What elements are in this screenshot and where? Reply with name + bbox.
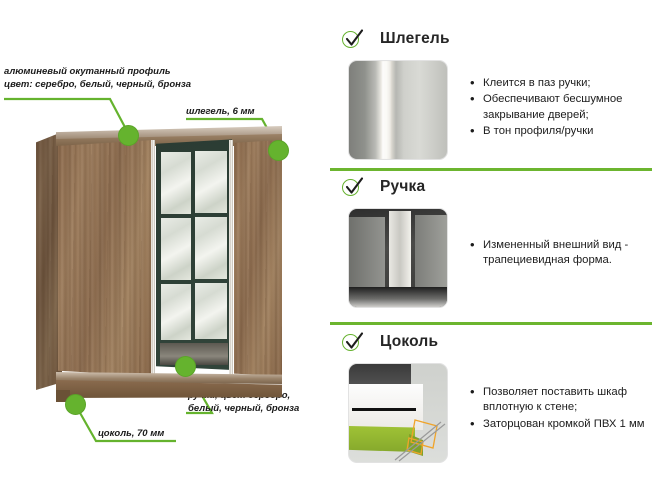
annotation-shlegel: шлегель, 6 мм: [186, 106, 255, 119]
feature-bullet-list: Клеится в паз ручки; Обеспечивают бесшум…: [470, 60, 652, 160]
handle-closeup-photo: [348, 208, 448, 308]
wardrobe-door-right: [234, 140, 282, 376]
annotation-plinth: цоколь, 70 мм: [98, 428, 164, 441]
annotation-profile-line2: цвет: серебро, белый, черный, бронза: [4, 79, 191, 92]
mirror-pane: [195, 151, 227, 213]
callout-dot-profile: [118, 125, 139, 146]
mirror-pane: [161, 152, 191, 214]
bullet-item: Измененный внешний вид - трапециевидная …: [470, 238, 652, 269]
annotation-shlegel-line1: шлегель, 6 мм: [186, 106, 255, 119]
product-illustration-panel: алюминевый окутанный профиль цвет: сереб…: [0, 0, 330, 500]
bullet-item: Клеится в паз ручки;: [470, 76, 652, 91]
check-circle-icon: [342, 332, 363, 353]
check-circle-icon: [342, 29, 363, 50]
features-panel: Шлегель Клеится в паз ручки; Обеспечиваю…: [330, 0, 652, 500]
section-divider: [330, 168, 652, 171]
annotation-profile-line1: алюминевый окутанный профиль: [4, 66, 191, 79]
plinth-closeup-photo: [348, 363, 448, 463]
feature-body: Позволяет поставить шкаф вплотную к стен…: [330, 363, 652, 463]
wardrobe-graphic: [36, 118, 282, 400]
annotation-plinth-line1: цоколь, 70 мм: [98, 428, 164, 441]
feature-body: Клеится в паз ручки; Обеспечивают бесшум…: [330, 60, 652, 160]
mirror-door-panel: [156, 138, 232, 370]
feature-title: Шлегель: [380, 30, 450, 48]
slide-root: алюминевый окутанный профиль цвет: сереб…: [0, 0, 652, 500]
feature-section-plinth: Цоколь Позволяет поставить шкаф вплотную…: [330, 327, 652, 482]
feature-header: Ручка: [330, 172, 652, 202]
feature-title: Ручка: [380, 178, 425, 196]
bullet-item: В тон профиля/ручки: [470, 124, 652, 139]
callout-dot-shlegel: [268, 140, 289, 161]
mirror-pane: [161, 284, 191, 340]
mirror-pane: [161, 218, 191, 280]
door-handle-right: [229, 140, 233, 376]
mirror-pane: [195, 283, 227, 339]
bullet-item: Заторцован кромкой ПВХ 1 мм: [470, 417, 652, 432]
callout-dot-handles: [175, 356, 196, 377]
brush-seal-photo: [348, 60, 448, 160]
section-divider: [330, 322, 652, 325]
door-handle-left: [151, 140, 155, 376]
mirror-pane: [195, 217, 227, 279]
annotation-handles-line2: белый, черный, бронза: [188, 403, 299, 416]
feature-bullet-list: Измененный внешний вид - трапециевидная …: [470, 208, 652, 308]
feature-section-handle: Ручка Измененный внешний вид - трапециев…: [330, 172, 652, 322]
bullet-item: Позволяет поставить шкаф вплотную к стен…: [470, 385, 652, 416]
feature-body: Измененный внешний вид - трапециевидная …: [330, 208, 652, 308]
feature-header: Шлегель: [330, 24, 652, 54]
annotation-profile: алюминевый окутанный профиль цвет: сереб…: [4, 66, 191, 91]
wardrobe-door-left: [58, 140, 154, 376]
feature-section-shlegel: Шлегель Клеится в паз ручки; Обеспечиваю…: [330, 24, 652, 169]
check-circle-icon: [342, 177, 363, 198]
feature-header: Цоколь: [330, 327, 652, 357]
bullet-item: Обеспечивают бесшумное закрывание дверей…: [470, 92, 652, 123]
callout-dot-plinth: [65, 394, 86, 415]
feature-bullet-list: Позволяет поставить шкаф вплотную к стен…: [470, 363, 652, 463]
feature-title: Цоколь: [380, 333, 438, 351]
